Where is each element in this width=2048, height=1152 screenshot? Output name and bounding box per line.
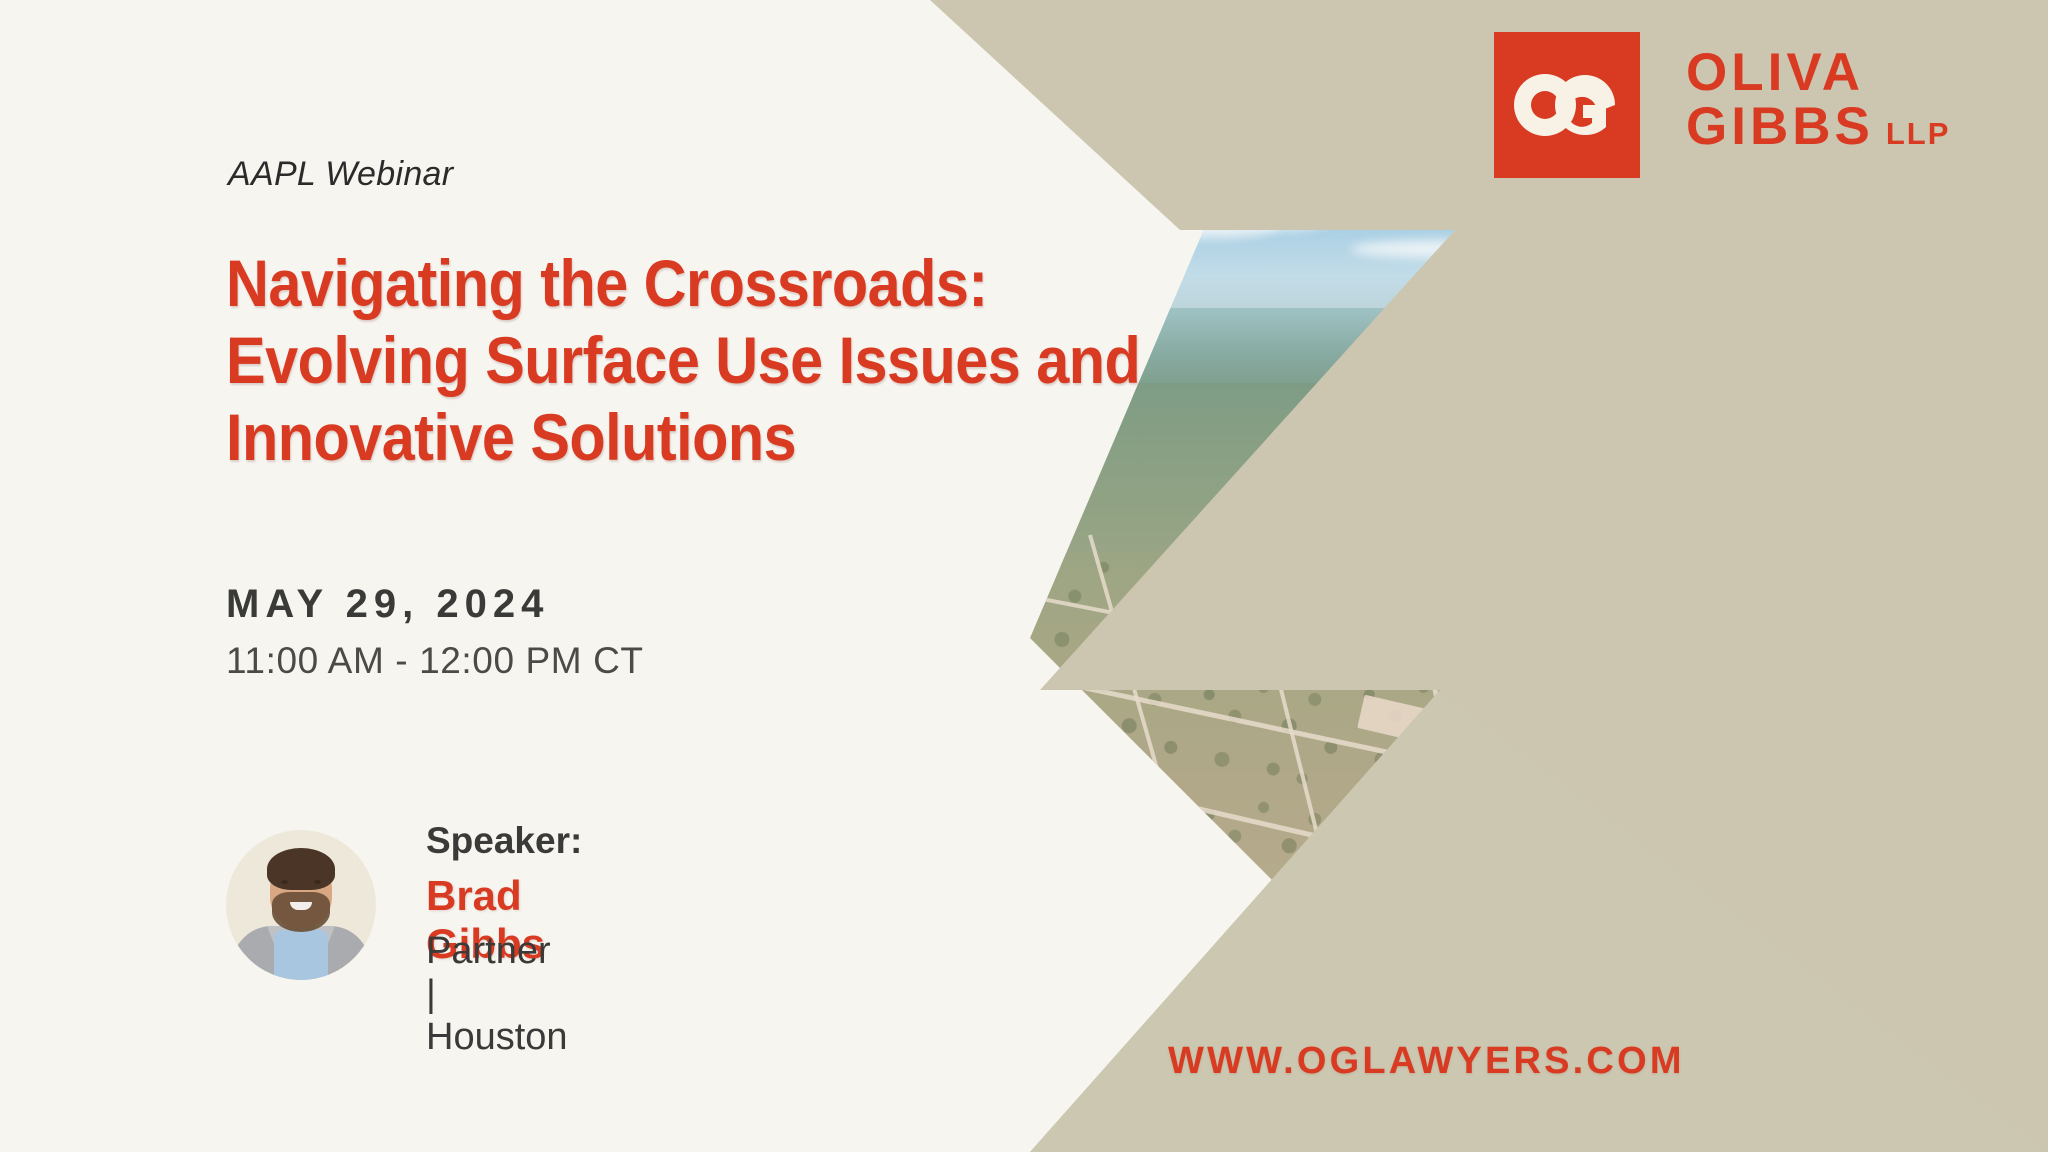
main-content: AAPL Webinar Navigating the Crossroads: … — [0, 0, 1000, 1152]
title-line-1: Navigating the Crossroads: — [226, 245, 910, 322]
logo-line-2-text: GIBBS — [1686, 100, 1874, 154]
speaker-label: Speaker: — [426, 820, 582, 862]
logo-line-1: OLIVA — [1686, 46, 1950, 100]
title-line-3: Innovative Solutions — [226, 399, 910, 476]
avatar — [226, 830, 376, 980]
poster-canvas: AAPL Webinar Navigating the Crossroads: … — [0, 0, 2048, 1152]
event-time: 11:00 AM - 12:00 PM CT — [226, 640, 644, 682]
speaker-role: Partner | Houston — [426, 930, 568, 1059]
brand-logo: OLIVA GIBBS LLP — [1494, 32, 1950, 178]
eyebrow-label: AAPL Webinar — [228, 155, 453, 194]
logo-line-2: GIBBS LLP — [1686, 100, 1950, 154]
logo-wordmark: OLIVA GIBBS LLP — [1686, 32, 1950, 154]
website-url[interactable]: WWW.OGLAWYERS.COM — [1168, 1040, 1685, 1083]
og-monogram-icon — [1494, 32, 1640, 178]
logo-suffix: LLP — [1886, 118, 1951, 150]
event-date: MAY 29, 2024 — [226, 582, 549, 627]
title-line-2: Evolving Surface Use Issues and — [226, 322, 910, 399]
page-title: Navigating the Crossroads: Evolving Surf… — [226, 245, 910, 477]
